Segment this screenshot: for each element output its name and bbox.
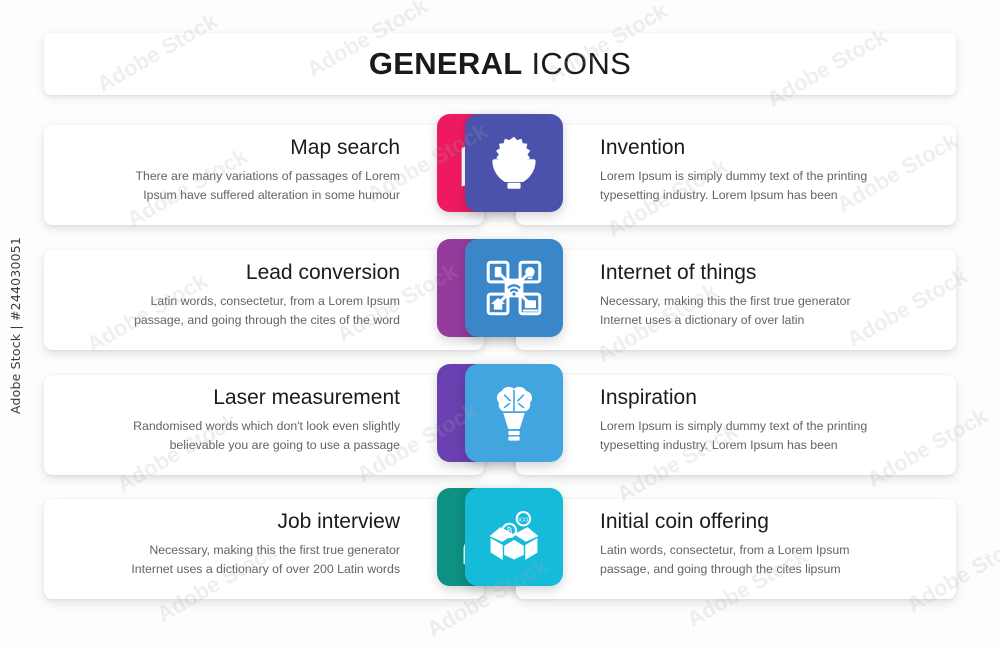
card-laser-measurement[interactable]: Laser measurementRandomised words which …	[44, 375, 484, 475]
card-description-line1: Latin words, consectetur, from a Lorem I…	[600, 541, 940, 560]
card-title-map-search: Map search	[60, 136, 400, 160]
card-text-block: InspirationLorem Ipsum is simply dummy t…	[600, 386, 940, 455]
card-title-inspiration: Inspiration	[600, 386, 940, 410]
card-description-line2: passage, and going through the cites of …	[60, 311, 400, 330]
card-text-block: InventionLorem Ipsum is simply dummy tex…	[600, 136, 940, 205]
card-text-block: Lead conversionLatin words, consectetur,…	[60, 261, 400, 330]
card-lead-conversion[interactable]: Lead conversionLatin words, consectetur,…	[44, 250, 484, 350]
card-description-line1: Lorem Ipsum is simply dummy text of the …	[600, 417, 940, 436]
invention-icon	[484, 133, 544, 193]
card-description-line2: passage, and going through the cites lip…	[600, 560, 940, 579]
icon-tile-invention[interactable]	[465, 114, 563, 212]
card-map-search[interactable]: Map searchThere are many variations of p…	[44, 125, 484, 225]
card-description-line2: Internet uses a dictionary of over latin	[600, 311, 940, 330]
internet-of-things-icon	[484, 258, 544, 318]
card-title-initial-coin-offering: Initial coin offering	[600, 510, 940, 534]
card-description-line1: There are many variations of passages of…	[60, 167, 400, 186]
card-invention[interactable]: InventionLorem Ipsum is simply dummy tex…	[516, 125, 956, 225]
card-job-interview[interactable]: Job interviewNecessary, making this the …	[44, 499, 484, 599]
card-internet-of-things[interactable]: Internet of thingsNecessary, making this…	[516, 250, 956, 350]
card-text-block: Map searchThere are many variations of p…	[60, 136, 400, 205]
card-description-line2: Internet uses a dictionary of over 200 L…	[60, 560, 400, 579]
card-description-line2: typesetting industry. Lorem Ipsum has be…	[600, 186, 940, 205]
card-title-job-interview: Job interview	[60, 510, 400, 534]
card-title-internet-of-things: Internet of things	[600, 261, 940, 285]
card-description-line1: Lorem Ipsum is simply dummy text of the …	[600, 167, 940, 186]
svg-text:ICO: ICO	[518, 517, 529, 523]
card-inspiration[interactable]: InspirationLorem Ipsum is simply dummy t…	[516, 375, 956, 475]
card-text-block: Job interviewNecessary, making this the …	[60, 510, 400, 579]
inspiration-icon	[484, 383, 544, 443]
card-description-line1: Latin words, consectetur, from a Lorem I…	[60, 292, 400, 311]
icon-tile-inspiration[interactable]	[465, 364, 563, 462]
icon-tile-internet-of-things[interactable]	[465, 239, 563, 337]
card-description-line1: Necessary, making this the first true ge…	[60, 541, 400, 560]
card-description-line1: Necessary, making this the first true ge…	[600, 292, 940, 311]
card-grid: Map searchThere are many variations of p…	[0, 0, 1000, 650]
card-title-lead-conversion: Lead conversion	[60, 261, 400, 285]
card-text-block: Laser measurementRandomised words which …	[60, 386, 400, 455]
card-title-invention: Invention	[600, 136, 940, 160]
card-text-block: Initial coin offeringLatin words, consec…	[600, 510, 940, 579]
card-description-line1: Randomised words which don't look even s…	[60, 417, 400, 436]
infographic-canvas: GENERAL ICONS Map searchThere are many v…	[0, 0, 1000, 650]
card-description-line2: Ipsum have suffered alteration in some h…	[60, 186, 400, 205]
card-title-laser-measurement: Laser measurement	[60, 386, 400, 410]
icon-tile-initial-coin-offering[interactable]: ICO ₿	[465, 488, 563, 586]
card-initial-coin-offering[interactable]: Initial coin offeringLatin words, consec…	[516, 499, 956, 599]
initial-coin-offering-icon: ICO ₿	[484, 507, 544, 567]
card-text-block: Internet of thingsNecessary, making this…	[600, 261, 940, 330]
card-description-line2: believable you are going to use a passag…	[60, 436, 400, 455]
card-description-line2: typesetting industry. Lorem Ipsum has be…	[600, 436, 940, 455]
